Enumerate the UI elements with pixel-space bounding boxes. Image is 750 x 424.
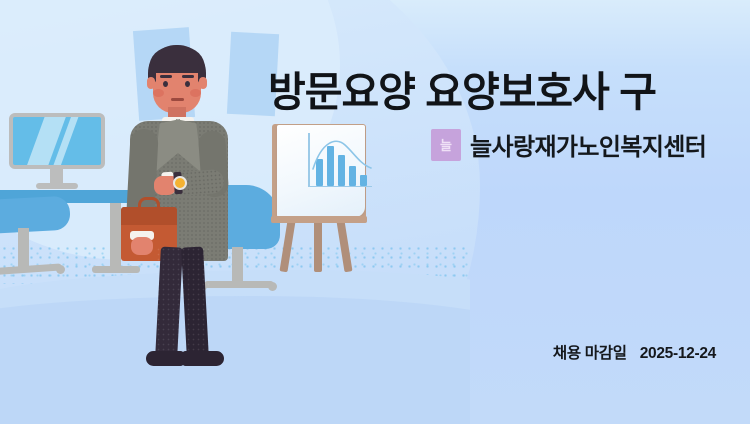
page-title: 방문요양 요양보호사 구 [268,68,656,116]
eye-right [185,81,190,87]
easel-tray [271,216,367,223]
mouth [171,98,184,101]
chair-wheel [268,282,277,291]
bar-chart-graphic [308,133,374,195]
ear-left [147,77,155,89]
office-chair-left-icon [0,198,108,308]
deadline-label: 채용 마감일 [553,345,627,362]
illustration-scene [0,0,470,424]
chart-trend-curve [312,135,372,177]
company-name: 늘사랑재가노인복지센터 [470,127,706,162]
job-posting-banner: 방문요양 요양보호사 구 늘 늘사랑재가노인복지센터 채용 마감일 2025-1… [0,0,750,424]
cheek-right [190,89,201,97]
shoe-right [182,351,224,366]
chair-base [0,263,62,275]
hair-top [149,47,205,73]
ear-right [199,77,207,89]
company-logo-icon: 늘 [431,129,461,161]
chair-seat [0,196,71,235]
deadline-date: 2025-12-24 [640,345,716,362]
chair-post [18,228,29,270]
easel-leg-middle [314,220,322,272]
eye-left [163,81,168,87]
eyebrow-left [160,75,172,78]
eyebrow-right [182,75,194,78]
businessman-illustration [118,45,268,375]
deadline-text: 채용 마감일 2025-12-24 [553,341,716,363]
chart-y-axis [308,133,310,187]
chair-wheel [56,265,65,274]
monitor-icon [9,113,105,169]
cheek-left [153,89,164,97]
shoe-left [146,351,184,366]
flipchart-sheet [277,125,365,217]
hand-left [131,237,153,255]
briefcase-flap [121,207,177,225]
company-row: 늘 늘사랑재가노인복지센터 [431,127,706,162]
wristwatch-icon [173,176,187,190]
trouser-texture [156,247,210,359]
monitor-stand-foot [36,183,78,189]
flipchart-easel-icon [258,128,378,273]
